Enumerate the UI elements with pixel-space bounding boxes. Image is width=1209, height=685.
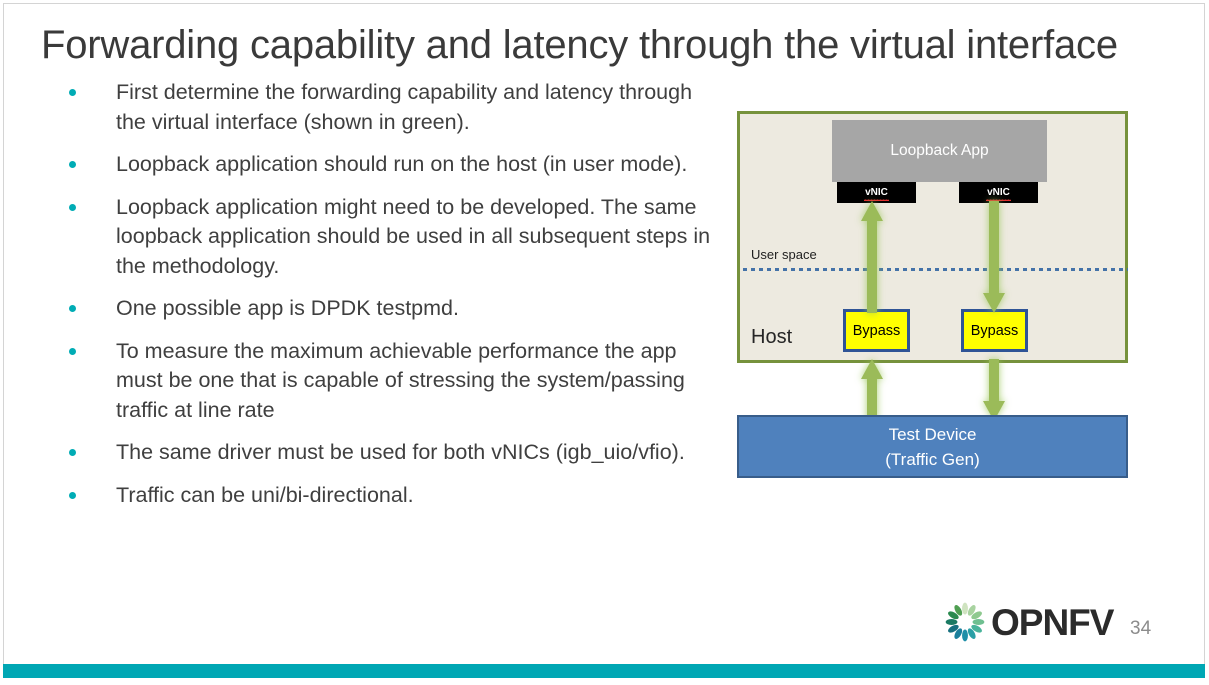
loopback-app-label: Loopback App bbox=[890, 142, 988, 160]
list-item: Loopback application might need to be de… bbox=[63, 193, 711, 282]
architecture-diagram: User space Host Loopback App vNIC vNIC B… bbox=[737, 111, 1129, 479]
opnfv-petal-burst-icon bbox=[944, 601, 986, 643]
user-kernel-boundary-divider bbox=[743, 268, 1128, 271]
bullet-dot-icon bbox=[69, 89, 76, 96]
list-item-label: Loopback application should run on the h… bbox=[116, 152, 687, 176]
page-title: Forwarding capability and latency throug… bbox=[41, 21, 1141, 69]
vnic-right-box: vNIC bbox=[959, 182, 1038, 203]
test-device-label-line1: Test Device bbox=[889, 422, 977, 447]
vnic-left-label: vNIC bbox=[865, 187, 888, 199]
list-item-label: First determine the forwarding capabilit… bbox=[116, 80, 692, 134]
loopback-app-box: Loopback App bbox=[832, 120, 1047, 182]
test-device-label-line2: (Traffic Gen) bbox=[885, 447, 979, 472]
bullet-list: First determine the forwarding capabilit… bbox=[63, 78, 713, 523]
list-item: The same driver must be used for both vN… bbox=[63, 438, 711, 468]
bypass-left-box: Bypass bbox=[843, 309, 910, 352]
list-item-label: The same driver must be used for both vN… bbox=[116, 440, 685, 464]
opnfv-logo: OPNFV bbox=[944, 601, 1113, 643]
bullet-dot-icon bbox=[69, 305, 76, 312]
page-number: 34 bbox=[1130, 618, 1151, 640]
bullet-dot-icon bbox=[69, 161, 76, 168]
arrow-down-icon bbox=[982, 359, 1006, 421]
bullet-dot-icon bbox=[69, 449, 76, 456]
list-item-label: To measure the maximum achievable perfor… bbox=[116, 339, 685, 422]
bullet-dot-icon bbox=[69, 492, 76, 499]
list-item-label: Loopback application might need to be de… bbox=[116, 195, 710, 278]
list-item: One possible app is DPDK testpmd. bbox=[63, 294, 711, 324]
list-item-label: Traffic can be uni/bi-directional. bbox=[116, 483, 414, 507]
slide: Forwarding capability and latency throug… bbox=[0, 0, 1209, 685]
bypass-left-label: Bypass bbox=[853, 323, 901, 339]
bypass-right-label: Bypass bbox=[971, 323, 1019, 339]
bullet-dot-icon bbox=[69, 348, 76, 355]
list-item: To measure the maximum achievable perfor… bbox=[63, 337, 711, 426]
list-item-label: One possible app is DPDK testpmd. bbox=[116, 296, 459, 320]
host-label: Host bbox=[751, 326, 792, 349]
vnic-left-box: vNIC bbox=[837, 182, 916, 203]
opnfv-logo-text: OPNFV bbox=[991, 604, 1113, 641]
test-device-box: Test Device (Traffic Gen) bbox=[737, 415, 1128, 478]
user-space-label: User space bbox=[751, 247, 817, 262]
bypass-right-box: Bypass bbox=[961, 309, 1028, 352]
list-item: Traffic can be uni/bi-directional. bbox=[63, 481, 711, 511]
bullet-dot-icon bbox=[69, 204, 76, 211]
list-item: Loopback application should run on the h… bbox=[63, 150, 711, 180]
vnic-right-label: vNIC bbox=[987, 187, 1010, 199]
arrow-down-icon bbox=[982, 201, 1006, 313]
list-item: First determine the forwarding capabilit… bbox=[63, 78, 711, 137]
footer-accent-bar bbox=[3, 664, 1205, 678]
arrow-up-icon bbox=[860, 359, 884, 421]
arrow-up-icon bbox=[860, 201, 884, 313]
